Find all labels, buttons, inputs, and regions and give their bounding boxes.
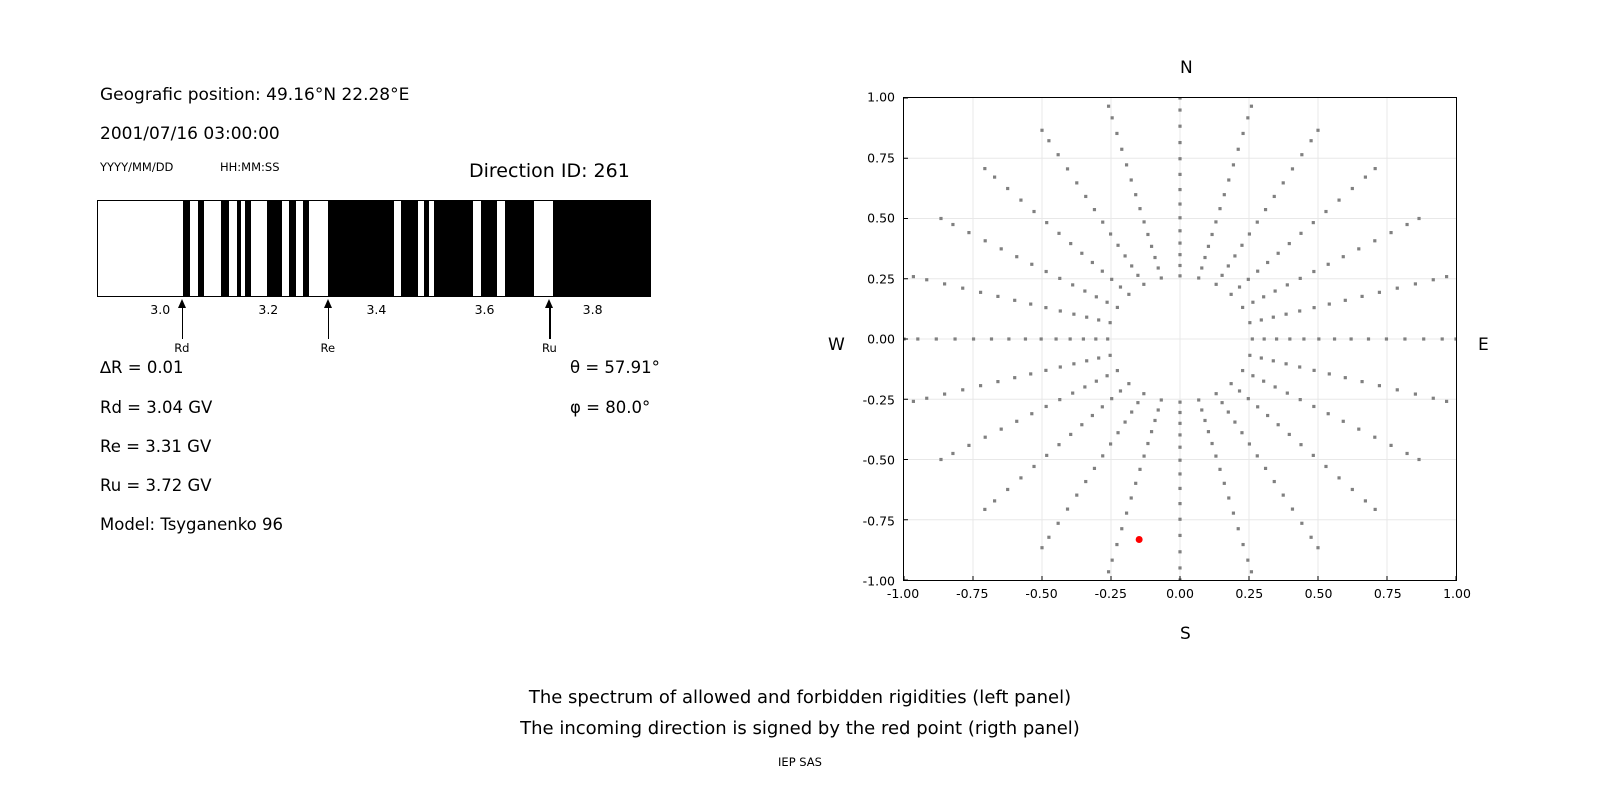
angle-parameter-row: φ = 80.0° <box>570 398 650 417</box>
forbidden-band <box>303 201 309 296</box>
rigidity-tick-label: 3.8 <box>583 302 603 317</box>
caption-line-1: The spectrum of allowed and forbidden ri… <box>0 687 1600 708</box>
x-tick-label: -0.50 <box>1025 586 1057 601</box>
rigidity-tick-label: 3.2 <box>258 302 278 317</box>
rigidity-spectrum-bar <box>97 200 651 297</box>
x-tick-label: 0.25 <box>1235 586 1263 601</box>
y-tick-label: 0.75 <box>835 150 895 165</box>
rigidity-axis: 3.03.23.43.63.8RdReRu <box>97 297 651 357</box>
scatter-canvas <box>904 98 1456 580</box>
parameter-row: Rd = 3.04 GV <box>100 398 212 417</box>
y-tick-label: 1.00 <box>835 90 895 105</box>
x-axis-tick-labels: -1.00-0.75-0.50-0.250.000.250.500.751.00 <box>903 586 1457 606</box>
angle-parameter-row: θ = 57.91° <box>570 358 660 377</box>
marker-shaft <box>182 305 183 339</box>
y-axis-tick-labels: 1.000.750.500.250.00-0.25-0.50-0.75-1.00 <box>833 97 895 581</box>
caption-line-2: The incoming direction is signed by the … <box>0 718 1600 739</box>
forbidden-band <box>481 201 498 296</box>
parameter-row: Model: Tsyganenko 96 <box>100 515 283 534</box>
forbidden-band <box>553 201 651 296</box>
marker-shaft <box>549 305 550 339</box>
forbidden-band <box>328 201 394 296</box>
x-tick-label: 0.50 <box>1305 586 1333 601</box>
x-tick-label: 1.00 <box>1443 586 1471 601</box>
incoming-direction-point <box>1136 536 1143 543</box>
y-tick-label: 0.00 <box>835 332 895 347</box>
forbidden-band <box>401 201 418 296</box>
y-tick-label: -0.75 <box>835 513 895 528</box>
geographic-position: Geografic position: 49.16°N 22.28°E <box>100 85 409 105</box>
right-panel: N S W E 1.000.750.500.250.00-0.25-0.50-0… <box>800 0 1600 800</box>
direction-scatter-plot <box>903 97 1457 581</box>
time-format-hint: HH:MM:SS <box>220 160 280 174</box>
rigidity-spectrum <box>97 200 651 297</box>
x-tick-label: -1.00 <box>887 586 919 601</box>
rigidity-tick-label: 3.4 <box>366 302 386 317</box>
forbidden-band <box>434 201 473 296</box>
forbidden-band <box>424 201 429 296</box>
grid-lines <box>904 98 1456 580</box>
y-tick-label: 0.50 <box>835 211 895 226</box>
datetime-value: 2001/07/16 03:00:00 <box>100 124 280 144</box>
marker-label: Rd <box>174 341 189 355</box>
x-tick-label: -0.25 <box>1095 586 1127 601</box>
compass-east-label: E <box>1478 335 1489 355</box>
parameter-row: ∆R = 0.01 <box>100 358 184 377</box>
compass-north-label: N <box>1180 58 1193 78</box>
x-tick-label: -0.75 <box>956 586 988 601</box>
compass-south-label: S <box>1180 624 1191 644</box>
forbidden-band <box>237 201 241 296</box>
marker-label: Ru <box>542 341 557 355</box>
forbidden-band <box>505 201 534 296</box>
left-panel: Geografic position: 49.16°N 22.28°E 2001… <box>0 0 800 800</box>
rigidity-tick-label: 3.0 <box>150 302 170 317</box>
y-tick-label: -0.25 <box>835 392 895 407</box>
forbidden-band <box>198 201 204 296</box>
direction-id: Direction ID: 261 <box>469 160 630 182</box>
forbidden-band <box>289 201 296 296</box>
x-tick-label: 0.75 <box>1374 586 1402 601</box>
forbidden-band <box>221 201 230 296</box>
rigidity-tick-label: 3.6 <box>475 302 495 317</box>
y-tick-label: -0.50 <box>835 453 895 468</box>
date-format-hint: YYYY/MM/DD <box>100 160 173 174</box>
y-tick-label: 0.25 <box>835 271 895 286</box>
marker-shaft <box>328 305 329 339</box>
x-tick-label: 0.00 <box>1166 586 1194 601</box>
forbidden-band <box>267 201 282 296</box>
parameter-row: Re = 3.31 GV <box>100 437 211 456</box>
footer-organization: IEP SAS <box>0 755 1600 769</box>
marker-label: Re <box>321 341 336 355</box>
forbidden-band <box>183 201 190 296</box>
parameter-row: Ru = 3.72 GV <box>100 476 212 495</box>
forbidden-band <box>245 201 251 296</box>
